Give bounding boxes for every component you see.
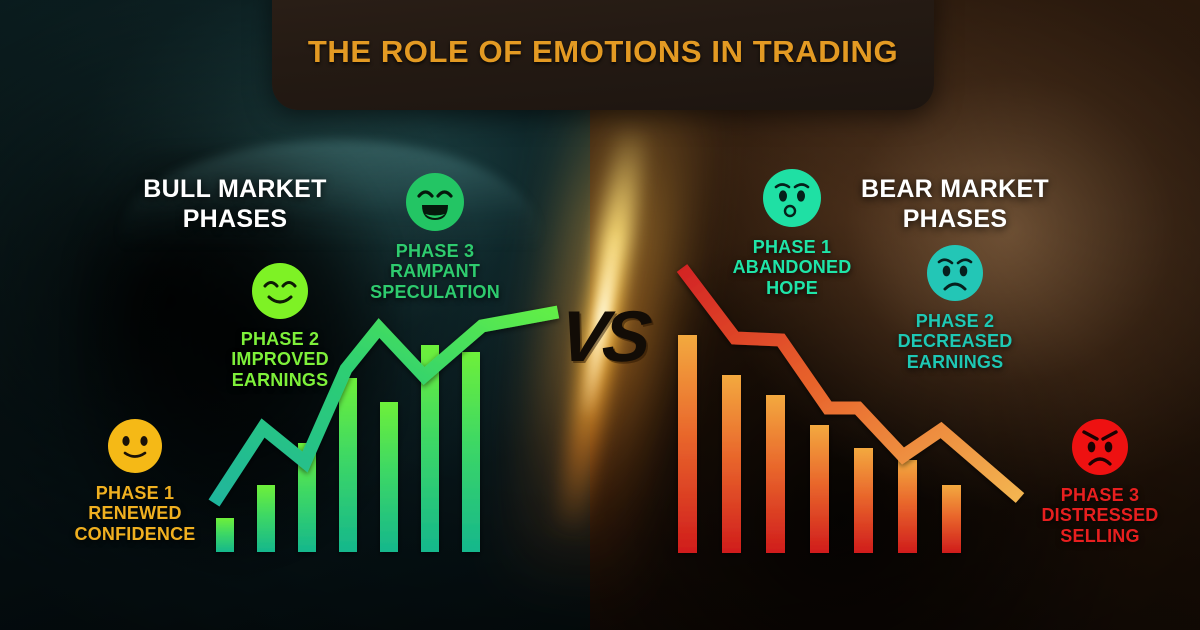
bull-phase-1-caption: PHASE 1 RENEWED CONFIDENCE: [35, 483, 235, 544]
bull-market-heading: BULL MARKET PHASES: [105, 175, 365, 234]
bar: [942, 485, 961, 553]
bull-phase-3-icon-wrap: [335, 172, 535, 232]
bear-phase-3-block: PHASE 3 DISTRESSED SELLING: [1000, 418, 1200, 546]
bear-phase-3-caption: PHASE 3 DISTRESSED SELLING: [1000, 485, 1200, 546]
bull-phase-3-block: PHASE 3 RAMPANT SPECULATION: [335, 172, 535, 302]
bear-phase-2-icon-wrap: [855, 244, 1055, 302]
bar: [462, 352, 480, 552]
bear-phase-2-caption: PHASE 2 DECREASED EARNINGS: [855, 311, 1055, 372]
bull-phase-1-block: PHASE 1 RENEWED CONFIDENCE: [35, 418, 235, 544]
laughing-face-icon: [405, 172, 465, 232]
bull-phase-1-icon-wrap: [35, 418, 235, 474]
sad-frown-face-icon: [926, 244, 984, 302]
bull-phase-3-caption: PHASE 3 RAMPANT SPECULATION: [335, 241, 535, 302]
happy-smile-face-icon: [251, 262, 309, 320]
bar: [678, 335, 697, 553]
bear-phase-2-block: PHASE 2 DECREASED EARNINGS: [855, 244, 1055, 372]
infographic-canvas: THE ROLE OF EMOTIONS IN TRADING BULL MAR…: [0, 0, 1200, 630]
bear-phase-1-icon-wrap: [692, 168, 892, 228]
bar: [257, 485, 275, 552]
bar: [339, 378, 357, 552]
bar: [722, 375, 741, 553]
bar: [810, 425, 829, 553]
bull-phase-2-caption: PHASE 2 IMPROVED EARNINGS: [180, 329, 380, 390]
bear-phase-3-icon-wrap: [1000, 418, 1200, 476]
versus-badge: VS: [556, 296, 651, 378]
bar: [380, 402, 398, 552]
title-banner: THE ROLE OF EMOTIONS IN TRADING: [272, 0, 934, 110]
page-title: THE ROLE OF EMOTIONS IN TRADING: [308, 34, 898, 70]
neutral-smile-face-icon: [107, 418, 163, 474]
bar: [854, 448, 873, 553]
worried-face-icon: [762, 168, 822, 228]
bar: [898, 460, 917, 553]
bar: [766, 395, 785, 553]
angry-face-icon: [1071, 418, 1129, 476]
